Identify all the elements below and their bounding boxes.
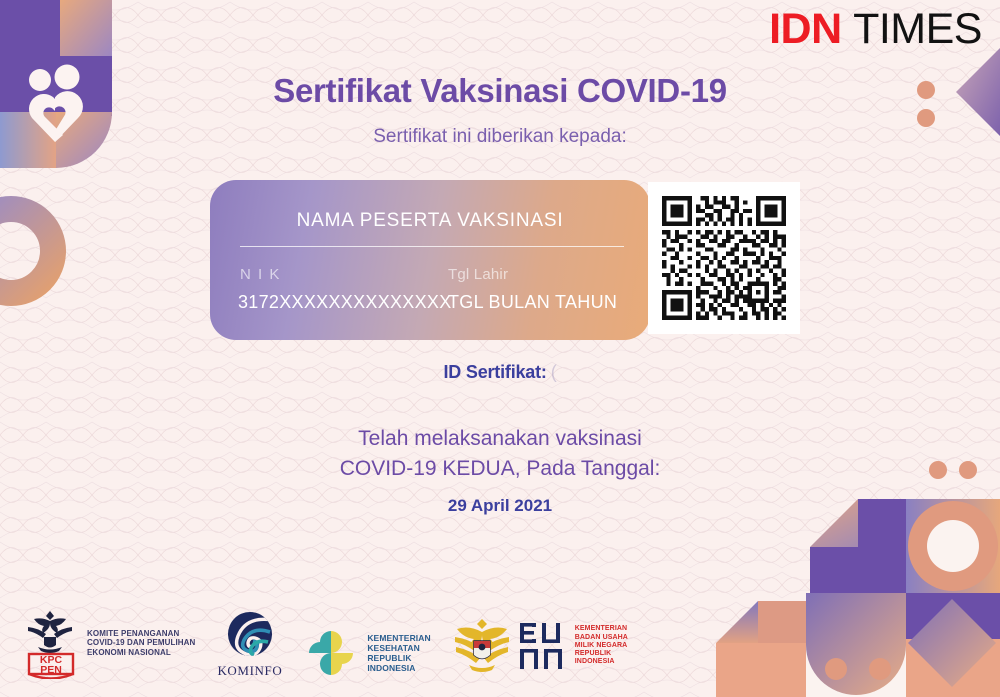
qr-code-container[interactable] [648, 182, 800, 334]
kemenkes-line-2: KESEHATAN [367, 643, 430, 653]
date-of-birth-value: TGL BULAN TAHUN [448, 292, 617, 313]
kemenkes-mark [304, 627, 360, 679]
identity-card: NAMA PESERTA VAKSINASI N I K 3172XXXXXXX… [210, 180, 650, 340]
kpcpen-logo: KPC PEN KOMITE PENANGANAN COVID-19 DAN P… [20, 607, 195, 679]
date-of-birth-label: Tgl Lahir [448, 266, 508, 283]
kominfo-wordmark: KOMINFO [217, 663, 282, 679]
bumn-line-1: KEMENTERIAN [575, 625, 628, 633]
certificate-id-label: ID Sertifikat: [443, 362, 546, 382]
kpcpen-line-2: COVID-19 DAN PEMULIHAN [87, 638, 195, 647]
footer-logos: KPC PEN KOMITE PENANGANAN COVID-19 DAN P… [20, 599, 628, 679]
kemenkes-line-3: REPUBLIK [367, 653, 430, 663]
kemenkes-line-4: INDONESIA [367, 663, 430, 673]
dot [917, 109, 935, 127]
garuda-pancasila-icon [453, 613, 511, 679]
certificate-id-row: ID Sertifikat:( [0, 362, 1000, 383]
watermark-idn: IDN [769, 5, 842, 53]
qr-code [662, 196, 786, 320]
bumn-logo: KEMENTERIAN BADAN USAHA MILIK NEGARA REP… [453, 613, 628, 679]
bumn-text: KEMENTERIAN BADAN USAHA MILIK NEGARA REP… [575, 625, 628, 666]
vaccination-date: 29 April 2021 [0, 496, 1000, 516]
bumn-wordmark [518, 619, 568, 673]
bumn-line-5: INDONESIA [575, 658, 628, 666]
nik-value: 3172XXXXXXXXXXXXXX [238, 292, 452, 313]
participant-name: NAMA PESERTA VAKSINASI [210, 210, 650, 232]
kemenkes-petals [309, 631, 353, 675]
kpcpen-text: KOMITE PENANGANAN COVID-19 DAN PEMULIHAN… [87, 629, 195, 657]
kpcpen-line-3: EKONOMI NASIONAL [87, 648, 195, 657]
kominfo-mark [222, 610, 278, 662]
statement-line-2: COVID-19 KEDUA, Pada Tanggal: [0, 454, 1000, 484]
pancasila-shield [474, 641, 490, 659]
bumn-line-2: BADAN USAHA [575, 634, 628, 642]
kemenkes-logo: KEMENTERIAN KESEHATAN REPUBLIK INDONESIA [304, 627, 430, 679]
card-divider [240, 246, 624, 247]
garuda-icon [28, 611, 72, 653]
bumn-line-4: REPUBLIK [575, 650, 628, 658]
statement-line-1: Telah melaksanakan vaksinasi [0, 424, 1000, 454]
certificate-id-value: ( [551, 362, 557, 382]
dot [825, 658, 847, 680]
kpcpen-line-1: KOMITE PENANGANAN [87, 629, 195, 638]
bumn-line-3: MILIK NEGARA [575, 642, 628, 650]
page-title: Sertifikat Vaksinasi COVID-19 [0, 72, 1000, 110]
kominfo-logo: KOMINFO [217, 610, 282, 679]
page-subtitle: Sertifikat ini diberikan kepada: [0, 126, 1000, 148]
idn-times-watermark: IDN TIMES [769, 8, 982, 51]
svg-text:PEN: PEN [40, 664, 62, 676]
vaccination-certificate: IDN TIMES Sertifikat Vaksinasi COVID-19 … [0, 0, 1000, 697]
dot [869, 658, 891, 680]
kpcpen-wordmark: KPC PEN [29, 654, 73, 676]
vaccination-statement: Telah melaksanakan vaksinasi COVID-19 KE… [0, 424, 1000, 485]
left-ring-decoration [0, 196, 66, 306]
kemenkes-line-1: KEMENTERIAN [367, 633, 430, 643]
kpcpen-mark: KPC PEN [20, 607, 80, 679]
watermark-times: TIMES [853, 5, 982, 53]
kemenkes-text: KEMENTERIAN KESEHATAN REPUBLIK INDONESIA [367, 633, 430, 673]
nik-label: N I K [240, 266, 281, 283]
